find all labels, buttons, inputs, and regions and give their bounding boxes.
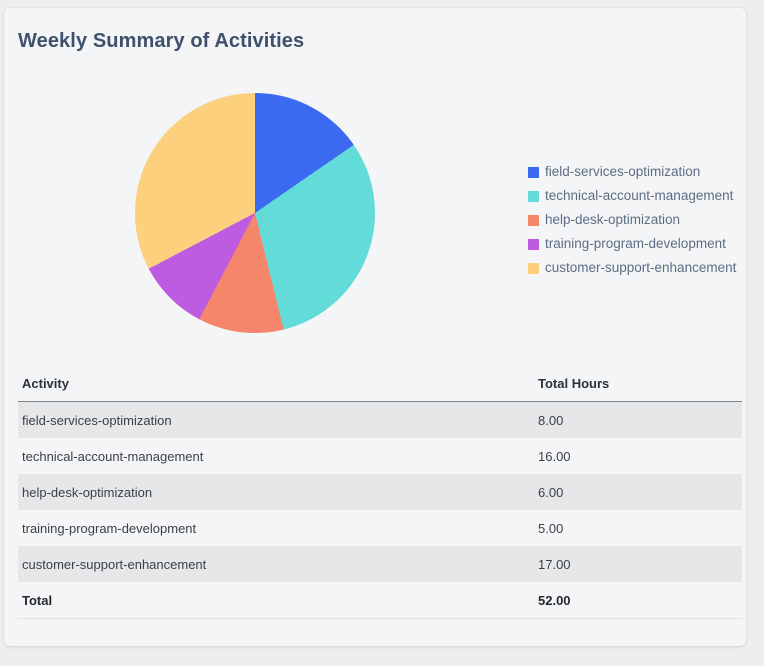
legend-item[interactable]: help-desk-optimization: [528, 208, 743, 232]
cell-total-value: 52.00: [534, 582, 742, 619]
table-header-row: Activity Total Hours: [18, 370, 742, 402]
cell-total-hours: 16.00: [534, 438, 742, 474]
table-row: technical-account-management16.00: [18, 438, 742, 474]
legend-color-swatch: [528, 239, 539, 250]
table-row: help-desk-optimization6.00: [18, 474, 742, 510]
cell-activity: help-desk-optimization: [18, 474, 534, 510]
cell-total-hours: 5.00: [534, 510, 742, 546]
table-head: Activity Total Hours: [18, 370, 742, 402]
legend-item-label: customer-support-enhancement: [545, 261, 736, 275]
cell-activity: technical-account-management: [18, 438, 534, 474]
legend-item-label: training-program-development: [545, 237, 726, 251]
summary-card: Weekly Summary of Activities field-servi…: [4, 8, 746, 646]
legend-item[interactable]: customer-support-enhancement: [528, 256, 743, 280]
cell-total-hours: 8.00: [534, 402, 742, 439]
column-header-total-hours: Total Hours: [534, 370, 742, 402]
table-total-row: Total52.00: [18, 582, 742, 619]
legend-item-label: technical-account-management: [545, 189, 733, 203]
cell-total-hours: 17.00: [534, 546, 742, 582]
table-row: customer-support-enhancement17.00: [18, 546, 742, 582]
legend-item[interactable]: training-program-development: [528, 232, 743, 256]
legend-color-swatch: [528, 191, 539, 202]
pie-chart: [135, 93, 375, 333]
page-title: Weekly Summary of Activities: [18, 30, 304, 53]
legend-color-swatch: [528, 263, 539, 274]
cell-activity: field-services-optimization: [18, 402, 534, 439]
summary-table: Activity Total Hours field-services-opti…: [18, 370, 742, 619]
cell-activity: training-program-development: [18, 510, 534, 546]
table-body: field-services-optimization8.00technical…: [18, 402, 742, 619]
table-row: training-program-development5.00: [18, 510, 742, 546]
legend-item-label: help-desk-optimization: [545, 213, 680, 227]
legend-color-swatch: [528, 167, 539, 178]
page-background: Weekly Summary of Activities field-servi…: [0, 0, 764, 666]
cell-total-label: Total: [18, 582, 534, 619]
chart-legend: field-services-optimizationtechnical-acc…: [528, 160, 743, 280]
chart-area: field-services-optimizationtechnical-acc…: [4, 84, 746, 356]
cell-activity: customer-support-enhancement: [18, 546, 534, 582]
cell-total-hours: 6.00: [534, 474, 742, 510]
column-header-activity: Activity: [18, 370, 534, 402]
legend-color-swatch: [528, 215, 539, 226]
pie-chart-shape: [135, 93, 375, 333]
legend-item-label: field-services-optimization: [545, 165, 700, 179]
legend-item[interactable]: field-services-optimization: [528, 160, 743, 184]
legend-item[interactable]: technical-account-management: [528, 184, 743, 208]
summary-table-wrap: Activity Total Hours field-services-opti…: [4, 370, 746, 619]
table-row: field-services-optimization8.00: [18, 402, 742, 439]
